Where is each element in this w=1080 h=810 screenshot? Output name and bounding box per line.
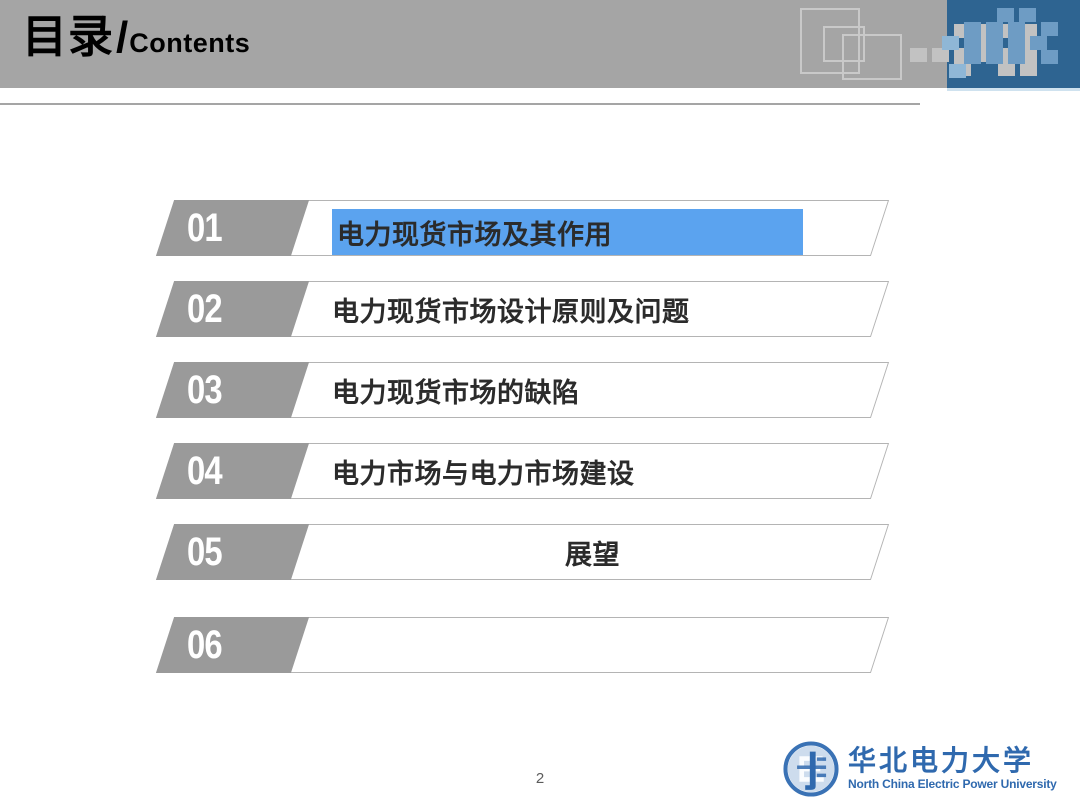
row-number: 01 bbox=[187, 200, 277, 256]
row-label[interactable]: 电力现货市场及其作用 bbox=[332, 209, 803, 255]
university-logo: 华北电力大学 North China Electric Power Univer… bbox=[782, 736, 1072, 802]
university-name-cn: 华北电力大学 bbox=[848, 747, 1057, 776]
contents-row[interactable]: 06 bbox=[165, 617, 880, 673]
row-number: 06 bbox=[187, 617, 277, 673]
row-label[interactable]: 电力市场与电力市场建设 bbox=[332, 443, 635, 499]
contents-row[interactable]: 02 电力现货市场设计原则及问题 bbox=[165, 281, 880, 337]
row-number: 02 bbox=[187, 281, 277, 337]
row-banner bbox=[240, 617, 889, 673]
slide-contents-page: 目录 / Contents 01 电力现货市场及其作用 02 电力现货市场设计原… bbox=[0, 0, 1080, 810]
row-label[interactable]: 电力现货市场设计原则及问题 bbox=[332, 281, 690, 337]
university-name-en: North China Electric Power University bbox=[848, 777, 1057, 791]
contents-row[interactable]: 05 展望 bbox=[165, 524, 880, 580]
row-number: 03 bbox=[187, 362, 277, 418]
contents-row[interactable]: 04 电力市场与电力市场建设 bbox=[165, 443, 880, 499]
row-number: 04 bbox=[187, 443, 277, 499]
row-label[interactable]: 展望 bbox=[165, 524, 880, 580]
university-logo-text: 华北电力大学 North China Electric Power Univer… bbox=[848, 747, 1057, 792]
contents-row[interactable]: 01 电力现货市场及其作用 bbox=[165, 200, 880, 256]
row-label[interactable]: 电力现货市场的缺陷 bbox=[332, 362, 580, 418]
contents-list: 01 电力现货市场及其作用 02 电力现货市场设计原则及问题 03 电力现货市场… bbox=[0, 0, 1080, 810]
contents-row[interactable]: 03 电力现货市场的缺陷 bbox=[165, 362, 880, 418]
university-emblem-icon bbox=[782, 740, 840, 798]
